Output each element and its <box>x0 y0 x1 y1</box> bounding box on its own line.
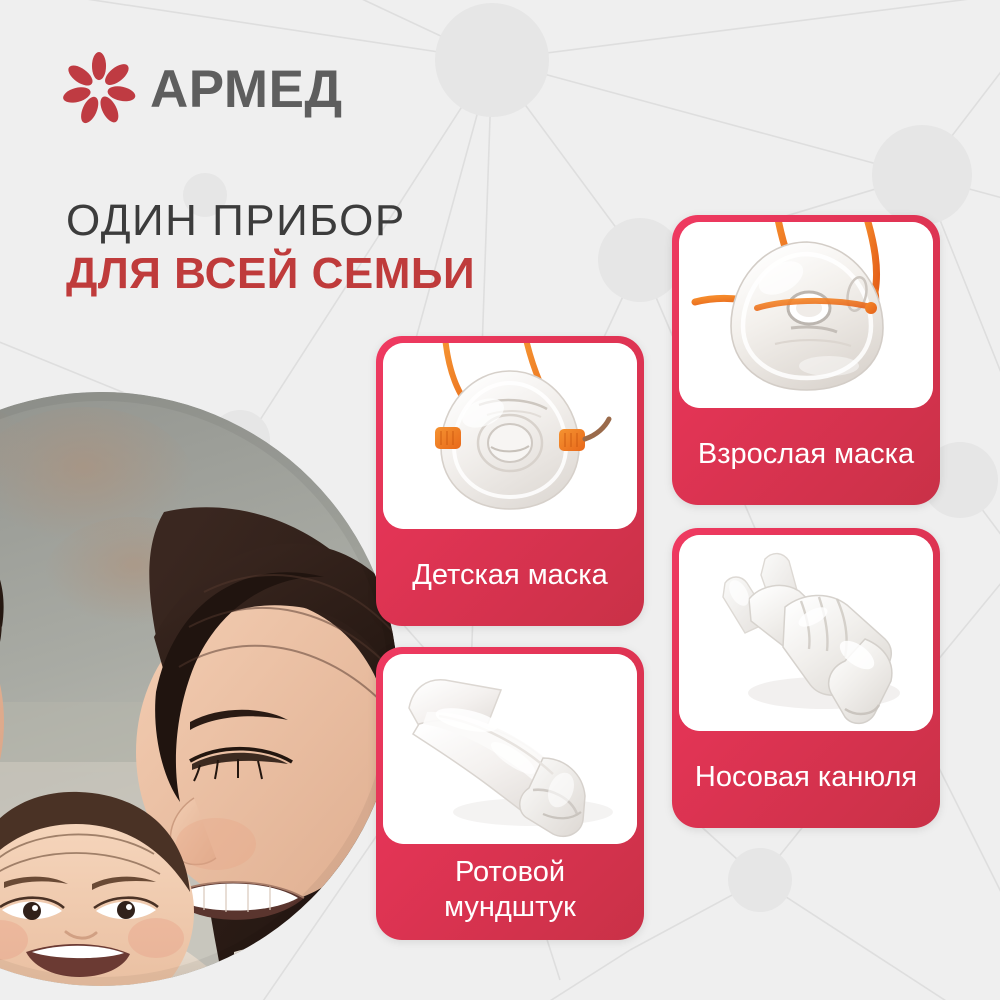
card-label-mouthpiece: Ротовой мундштук <box>383 844 637 940</box>
mouth-mouthpiece-image <box>383 654 637 844</box>
product-card-adult-mask[interactable]: Взрослая маска <box>672 215 940 505</box>
adult-oxygen-mask-image <box>679 222 933 408</box>
poster-canvas: АРМЕД ОДИН ПРИБОР ДЛЯ ВСЕЙ СЕМЬИ <box>0 0 1000 1000</box>
headline-line-2: ДЛЯ ВСЕЙ СЕМЬИ <box>66 249 475 298</box>
child-oxygen-mask-image <box>383 343 637 529</box>
nasal-cannula-image <box>679 535 933 731</box>
card-label-child-mask: Детская маска <box>383 529 637 626</box>
product-card-child-mask[interactable]: Детская маска <box>376 336 644 626</box>
headline-line-1: ОДИН ПРИБОР <box>66 196 475 245</box>
product-card-mouthpiece[interactable]: Ротовой мундштук <box>376 647 644 940</box>
armed-flower-logo-icon <box>62 52 136 126</box>
card-label-adult-mask: Взрослая маска <box>679 408 933 505</box>
headline-block: ОДИН ПРИБОР ДЛЯ ВСЕЙ СЕМЬИ <box>66 196 475 299</box>
brand-logo-text: АРМЕД <box>150 63 343 116</box>
card-label-nasal-cannula: Носовая канюля <box>679 731 933 828</box>
product-card-nasal-cannula[interactable]: Носовая канюля <box>672 528 940 828</box>
brand-logo: АРМЕД <box>62 52 343 126</box>
